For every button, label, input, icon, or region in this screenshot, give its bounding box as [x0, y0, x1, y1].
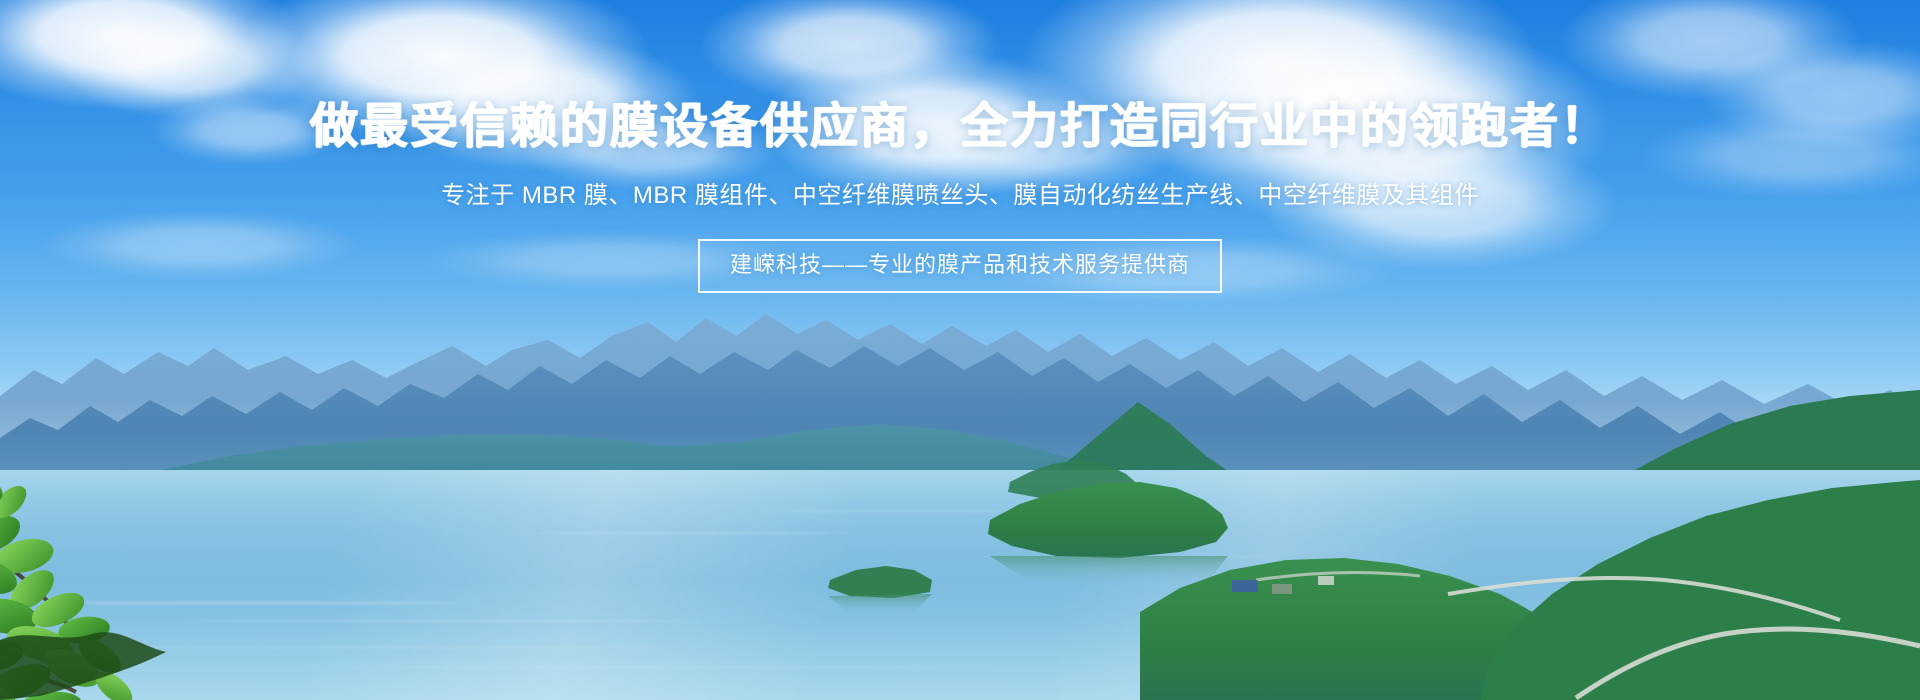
hero-banner: 做最受信赖的膜设备供应商，全力打造同行业中的领跑者！ 专注于 MBR 膜、MBR…	[0, 0, 1920, 700]
banner-tagline-wrapper: 建嵘科技——专业的膜产品和技术服务提供商	[698, 239, 1222, 293]
banner-tagline-box: 建嵘科技——专业的膜产品和技术服务提供商	[698, 239, 1222, 293]
water-reflection	[0, 470, 1920, 700]
banner-subheadline: 专注于 MBR 膜、MBR 膜组件、中空纤维膜喷丝头、膜自动化纺丝生产线、中空纤…	[0, 180, 1920, 211]
lake-water	[0, 470, 1920, 700]
banner-copy: 做最受信赖的膜设备供应商，全力打造同行业中的领跑者！ 专注于 MBR 膜、MBR…	[0, 0, 1920, 293]
banner-headline: 做最受信赖的膜设备供应商，全力打造同行业中的领跑者！	[0, 0, 1920, 154]
